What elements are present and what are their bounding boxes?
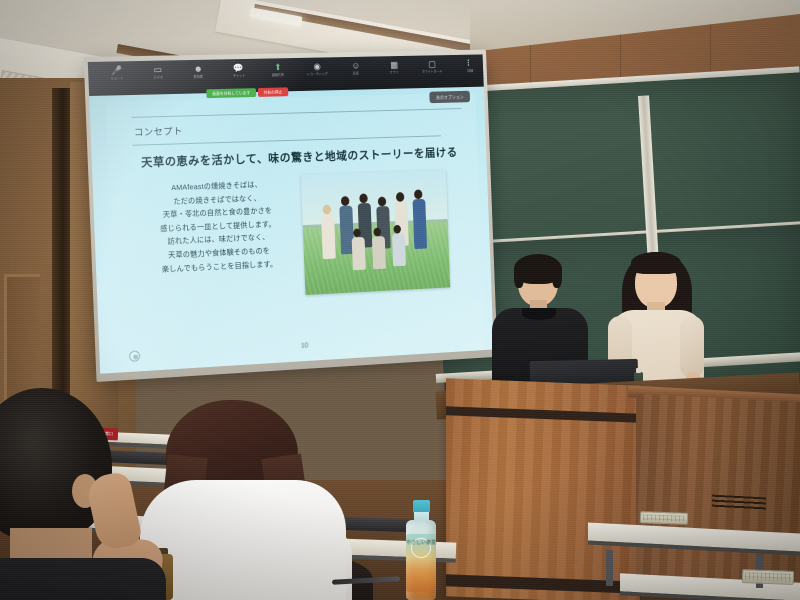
presenter-woman-bangs	[631, 252, 681, 274]
view-options-badge[interactable]: 表示オプション	[429, 91, 470, 103]
microphone-icon: 🎤	[111, 65, 122, 76]
toolbar-item-more[interactable]: ⠇ 詳細	[456, 58, 483, 74]
toolbar-label: チャット	[232, 74, 244, 79]
toolbar-label: ビデオ	[153, 76, 163, 81]
stop-share-button[interactable]: 共有の停止	[258, 87, 289, 97]
whiteboard-icon: ▢	[428, 59, 436, 70]
slide-headline: 天草の恵みを活かして、味の驚きと地域のストーリーを届ける	[141, 144, 464, 170]
audience-front-left-hand	[85, 470, 143, 552]
apps-icon: ▦	[390, 60, 398, 71]
slide-group-photo	[301, 169, 450, 295]
toolbar-label: ホワイトボード	[422, 70, 443, 75]
screen-surface: 🎤 ミュート ▭ ビデオ ☻ 参加者 💬 チャット ⬆ 画面共有	[88, 54, 494, 373]
presenter-man-hair-side	[514, 264, 524, 288]
toolbar-label: 詳細	[467, 69, 473, 74]
toolbar-item-video[interactable]: ▭ ビデオ	[143, 64, 173, 80]
toolbar-item-microphone[interactable]: 🎤 ミュート	[102, 65, 132, 82]
toolbar-label: 反応	[353, 71, 359, 76]
podium-trim	[446, 406, 640, 422]
toolbar-label: 画面共有	[272, 73, 284, 78]
slide-logo-icon	[129, 350, 140, 362]
record-icon: ◉	[313, 61, 321, 72]
toolbar-label: レコーディング	[307, 72, 328, 77]
projection-screen: 🎤 ミュート ▭ ビデオ ☻ 参加者 💬 チャット ⬆ 画面共有	[88, 54, 494, 373]
toolbar-label: アプリ	[390, 71, 399, 76]
more-icon: ⠇	[466, 58, 472, 69]
reactions-icon: ☺	[351, 61, 360, 72]
toolbar-item-whiteboard[interactable]: ▢ ホワイトボード	[418, 59, 445, 75]
presenter-man-hair-side	[552, 264, 562, 288]
audience-front-left	[0, 388, 146, 600]
barley-tea-bottle: やさしい麦茶	[404, 500, 438, 600]
toolbar-label: 参加者	[194, 75, 203, 80]
bottle-label-text: やさしい麦茶	[404, 540, 438, 546]
keyboard-1[interactable]	[640, 511, 688, 525]
presenter-man-collar	[522, 308, 556, 320]
lectern-vent	[712, 495, 766, 512]
desk-leg	[606, 550, 613, 586]
left-wall-gap	[52, 88, 72, 424]
toolbar-item-apps[interactable]: ▦ アプリ	[380, 60, 408, 76]
toolbar-item-chat[interactable]: 💬 チャット	[224, 63, 253, 79]
presenter-woman-sleeve	[680, 316, 704, 378]
audience-front-left-shirt	[0, 558, 166, 600]
share-screen-icon: ⬆	[274, 62, 282, 73]
toolbar-item-reactions[interactable]: ☺ 反応	[342, 60, 370, 76]
chat-icon: 💬	[233, 63, 244, 74]
slide-kicker: コンセプト	[134, 123, 183, 138]
presentation-slide: コンセプト 天草の恵みを活かして、味の驚きと地域のストーリーを届ける AMAfe…	[105, 93, 485, 373]
toolbar-item-record[interactable]: ◉ レコーディング	[303, 61, 331, 77]
toolbar-item-share-screen[interactable]: ⬆ 画面共有	[264, 62, 293, 78]
toolbar-item-participants[interactable]: ☻ 参加者	[184, 64, 213, 80]
participants-icon: ☻	[193, 64, 203, 75]
keyboard-2[interactable]	[742, 569, 794, 585]
lecture-hall-photo: 🎤 ミュート ▭ ビデオ ☻ 参加者 💬 チャット ⬆ 画面共有	[0, 0, 800, 600]
toolbar-label: ミュート	[111, 76, 124, 81]
video-camera-icon: ▭	[153, 65, 162, 76]
slide-body-text: AMAfeastの燻焼きそばは、 ただの焼きそばではなく、 天草・苓北の自然と食…	[134, 177, 301, 277]
slide-rule-top	[131, 108, 461, 118]
sharing-status-pill: 画面を共有しています	[206, 88, 256, 98]
